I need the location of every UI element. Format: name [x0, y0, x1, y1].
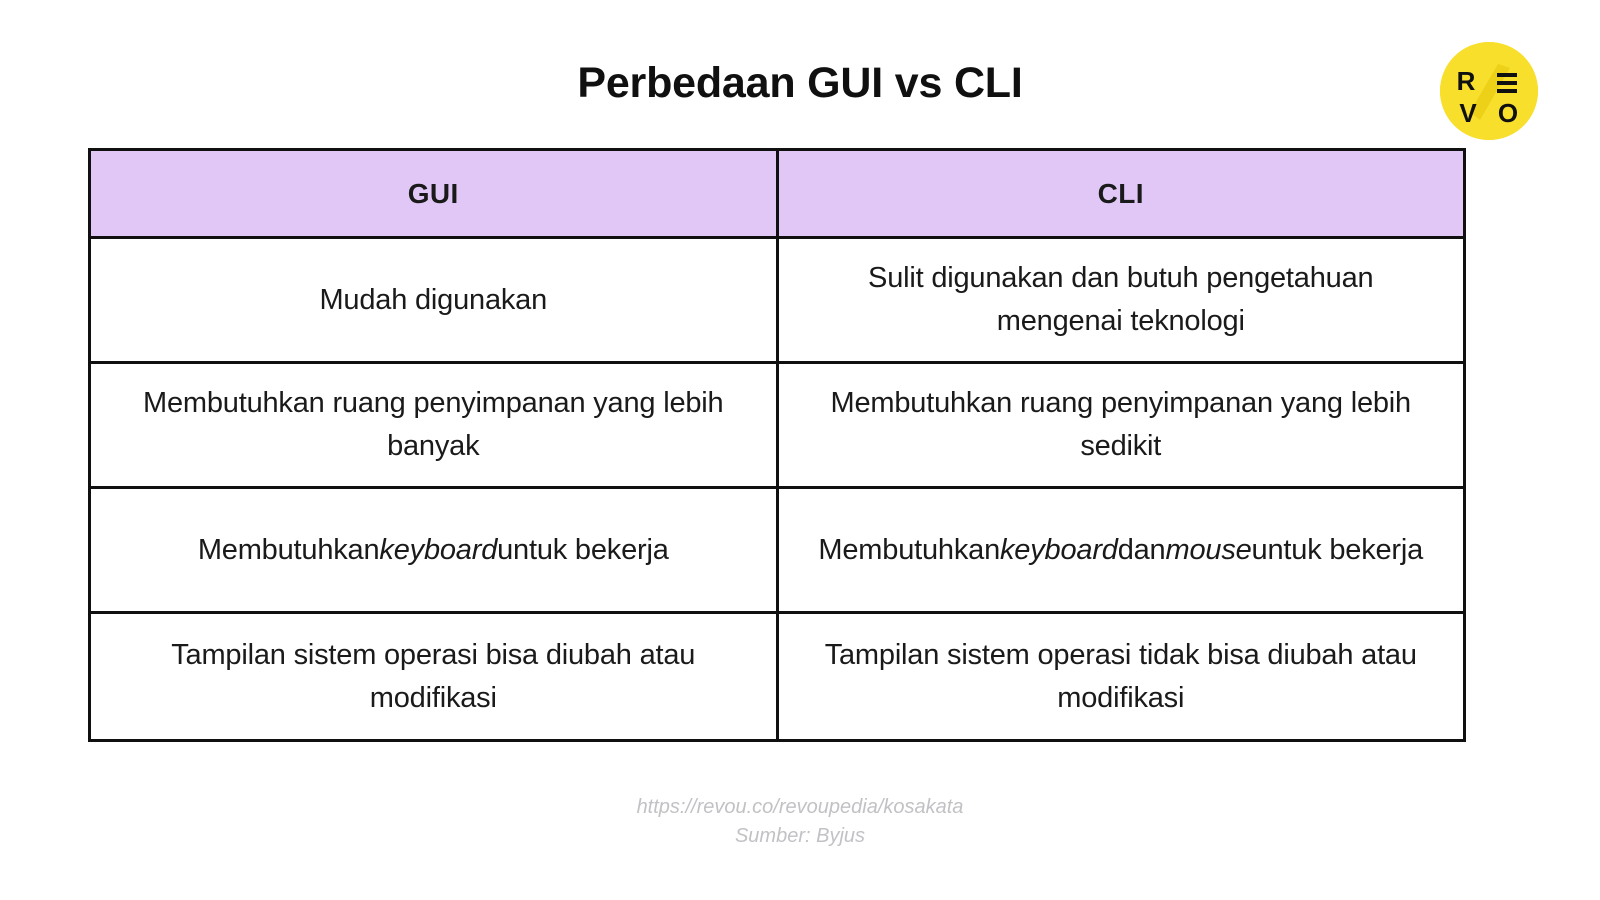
footer: https://revou.co/revoupedia/kosakata Sum…: [0, 793, 1600, 851]
comparison-table: GUI Mudah digunakan Membutuhkan ruang pe…: [88, 148, 1466, 742]
table-column-gui: GUI Mudah digunakan Membutuhkan ruang pe…: [88, 148, 778, 742]
column-header-gui: GUI: [91, 151, 776, 239]
table-cell-gui-4: Tampilan sistem operasi bisa diubah atau…: [91, 614, 776, 739]
table-cell-gui-3: Membutuhkan keyboard untuk bekerja: [91, 489, 776, 614]
table-column-cli: CLI Sulit digunakan dan butuh pengetahua…: [777, 148, 1467, 742]
page-title: Perbedaan GUI vs CLI: [0, 58, 1600, 110]
table-cell-cli-1: Sulit digunakan dan butuh pengetahuan me…: [779, 239, 1464, 364]
table-cell-gui-1: Mudah digunakan: [91, 239, 776, 364]
footer-source: Sumber: Byjus: [0, 822, 1600, 851]
table-cell-cli-3: Membutuhkan keyboard dan mouse untuk bek…: [779, 489, 1464, 614]
column-header-cli: CLI: [779, 151, 1464, 239]
slide-canvas: R V O Perbedaan GUI vs CLI GUI Mudah dig…: [0, 0, 1600, 900]
footer-url: https://revou.co/revoupedia/kosakata: [0, 793, 1600, 822]
table-cell-gui-2: Membutuhkan ruang penyimpanan yang lebih…: [91, 364, 776, 489]
table-cell-cli-4: Tampilan sistem operasi tidak bisa diuba…: [779, 614, 1464, 739]
table-cell-cli-2: Membutuhkan ruang penyimpanan yang lebih…: [779, 364, 1464, 489]
